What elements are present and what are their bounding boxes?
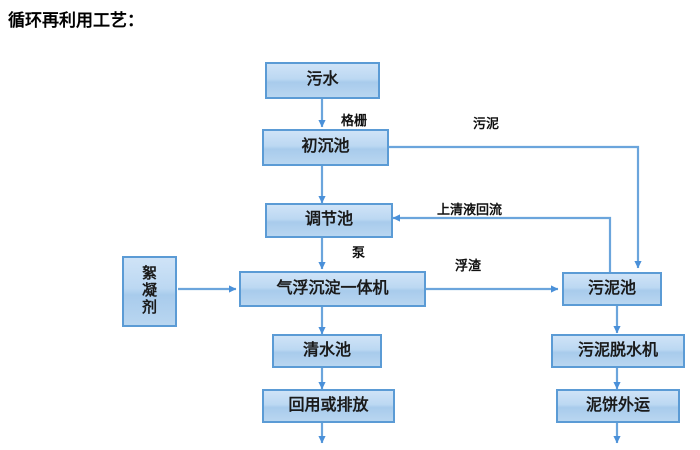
node-regulating-tank-label: 调节池 <box>305 212 353 229</box>
node-mud-cake-transport[interactable]: 泥饼外运 <box>556 389 680 423</box>
flowchart-canvas: 循环再利用工艺： 污泥池 --> 污泥池 --> <box>0 0 700 450</box>
node-reuse-or-discharge-label: 回用或排放 <box>288 398 368 415</box>
node-sludge-dewaterer-label: 污泥脱水机 <box>578 343 658 360</box>
edge-label-supernatant-reflux: 上清液回流 <box>437 199 502 218</box>
edge-label-sludge: 污泥 <box>473 113 499 132</box>
node-flocculant-label-line2: 凝 <box>142 283 157 300</box>
node-sludge-tank-label: 污泥池 <box>588 281 636 298</box>
edge-label-pump: 泵 <box>352 242 365 261</box>
node-flocculant-label-line3: 剂 <box>142 300 157 317</box>
wire-primary-sludge-to-sludgetank <box>389 147 638 268</box>
node-wastewater-label: 污水 <box>306 72 338 89</box>
node-flocculant[interactable]: 絮 凝 剂 <box>122 256 177 327</box>
node-sludge-tank[interactable]: 污泥池 <box>562 272 662 306</box>
node-flotation-machine[interactable]: 气浮沉淀一体机 <box>239 271 426 307</box>
node-flocculant-label-line1: 絮 <box>142 266 157 283</box>
node-primary-settling-tank[interactable]: 初沉池 <box>262 129 389 166</box>
wire-sludgetank-reflux-to-regulating <box>393 218 610 272</box>
node-clean-water-tank-label: 清水池 <box>303 343 351 360</box>
node-mud-cake-transport-label: 泥饼外运 <box>586 398 650 415</box>
node-clean-water-tank[interactable]: 清水池 <box>272 334 382 368</box>
node-wastewater[interactable]: 污水 <box>265 62 380 99</box>
node-reuse-or-discharge[interactable]: 回用或排放 <box>262 389 395 423</box>
edge-label-scum: 浮渣 <box>455 255 481 274</box>
node-primary-settling-tank-label: 初沉池 <box>301 139 349 156</box>
node-regulating-tank[interactable]: 调节池 <box>265 203 393 238</box>
node-sludge-dewaterer[interactable]: 污泥脱水机 <box>551 334 685 368</box>
edge-label-grating: 格栅 <box>341 110 367 129</box>
page-title: 循环再利用工艺： <box>8 6 144 31</box>
node-flotation-machine-label: 气浮沉淀一体机 <box>276 281 388 298</box>
